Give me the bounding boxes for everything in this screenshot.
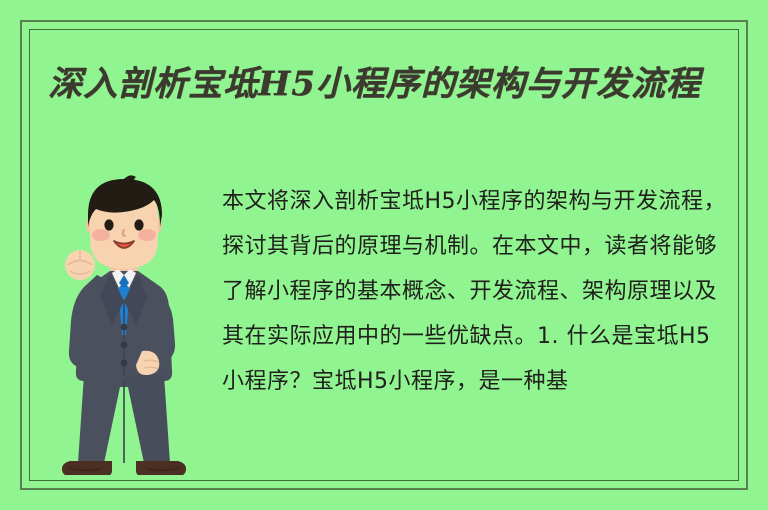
page-title: 深入剖析宝坻H5小程序的架构与开发流程 — [48, 58, 720, 110]
cheek-left — [92, 229, 110, 241]
eye-right — [134, 219, 143, 230]
article-body-text: 本文将深入剖析宝坻H5小程序的架构与开发流程，探讨其背后的原理与机制。在本文中，… — [208, 175, 732, 404]
trouser-left — [78, 375, 124, 463]
poster-canvas: 深入剖析宝坻H5小程序的架构与开发流程 — [0, 0, 768, 510]
jacket-button-1 — [121, 324, 128, 331]
cartoon-businessman-illustration — [40, 175, 208, 475]
eye-left — [104, 219, 113, 230]
jacket-button-3 — [121, 360, 128, 367]
content-row: 本文将深入剖析宝坻H5小程序的架构与开发流程，探讨其背后的原理与机制。在本文中，… — [40, 175, 732, 476]
jacket-button-2 — [121, 342, 128, 349]
trouser-right — [124, 375, 170, 463]
illustration-container — [40, 175, 208, 475]
cheek-right — [138, 229, 156, 241]
